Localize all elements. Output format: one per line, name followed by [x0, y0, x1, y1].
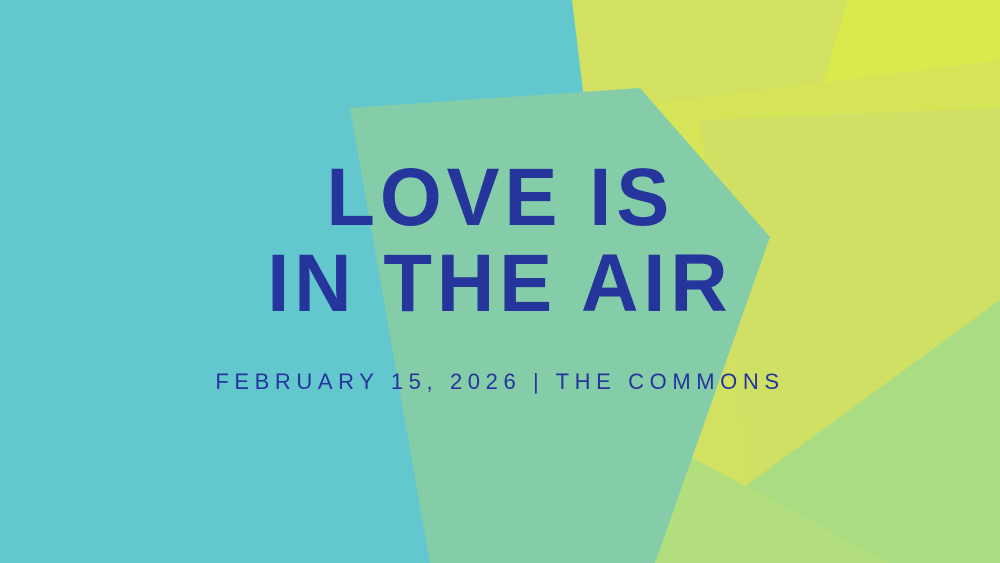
headline-line-2: IN THE AIR	[267, 244, 732, 324]
event-details-subtitle: FEBRUARY 15, 2026 | THE COMMONS	[215, 369, 784, 395]
headline-line-1: LOVE IS	[326, 158, 674, 238]
poster-content: LOVE IS IN THE AIR FEBRUARY 15, 2026 | T…	[0, 0, 1000, 563]
poster-canvas: LOVE IS IN THE AIR FEBRUARY 15, 2026 | T…	[0, 0, 1000, 563]
